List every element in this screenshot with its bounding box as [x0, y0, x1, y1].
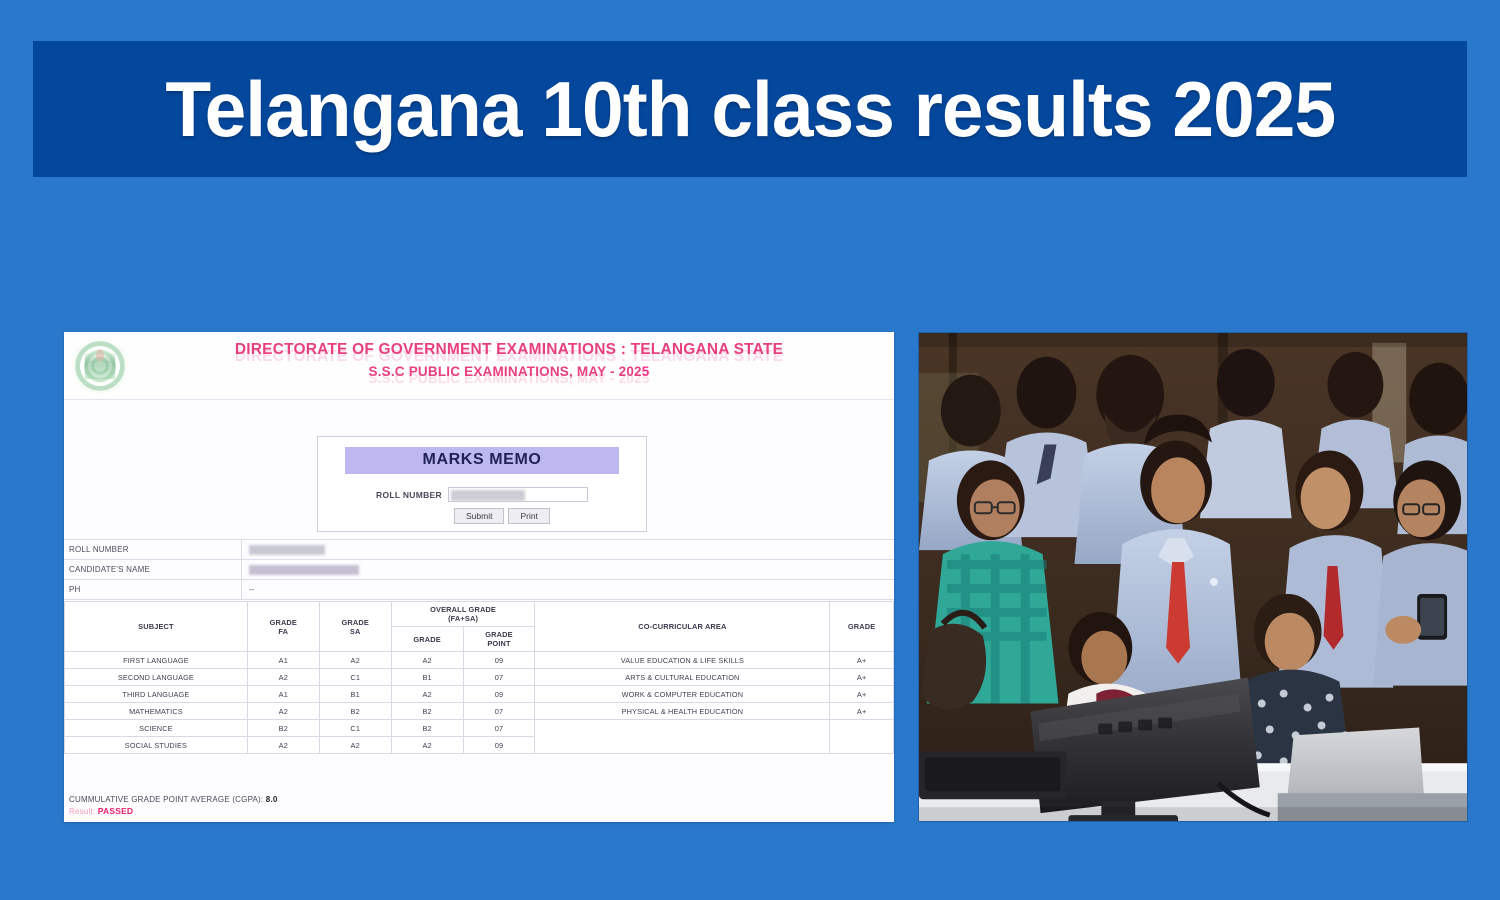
cell-co-curricular-area: PHYSICAL & HEALTH EDUCATION: [535, 703, 830, 720]
marks-memo-document: DIRECTORATE OF GOVERNMENT EXAMINATIONS :…: [64, 332, 894, 822]
marks-memo-lookup-panel: MARKS MEMO ROLL NUMBER Submit Print: [317, 436, 647, 532]
cell-grade-point: 09: [463, 652, 535, 669]
memo-header-line-2: S.S.C PUBLIC EXAMINATIONS, MAY - 2025: [64, 359, 894, 379]
table-row: FIRST LANGUAGEA1A2A209VALUE EDUCATION & …: [65, 652, 894, 669]
cell-grade-sa: A2: [319, 652, 391, 669]
result-line: Result: PASSED: [69, 806, 894, 816]
cell-co-curricular-area: ARTS & CULTURAL EDUCATION: [535, 669, 830, 686]
cell-grade-fa: A1: [247, 652, 319, 669]
cell-overall-grade: A2: [391, 686, 463, 703]
header-co-curricular-grade: GRADE: [830, 602, 894, 652]
roll-number-row: ROLL NUMBER: [318, 487, 646, 502]
cell-co-curricular-area-empty: [535, 720, 830, 754]
cell-grade-sa: C1: [319, 669, 391, 686]
cell-co-curricular-area: WORK & COMPUTER EDUCATION: [535, 686, 830, 703]
print-button[interactable]: Print: [508, 508, 549, 524]
cell-grade-point: 07: [463, 720, 535, 737]
result-label: Result:: [69, 807, 95, 816]
cell-subject: SECOND LANGUAGE: [65, 669, 248, 686]
cell-co-curricular-grade-empty: [830, 720, 894, 754]
header-grade-fa: GRADE FA: [247, 602, 319, 652]
header-grade-fa-line2: FA: [278, 627, 288, 636]
header-overall-grade: OVERALL GRADE (FA+SA): [391, 602, 535, 627]
candidate-info-value: [242, 560, 894, 579]
cell-co-curricular-grade: A+: [830, 686, 894, 703]
memo-header-line-1: DIRECTORATE OF GOVERNMENT EXAMINATIONS :…: [64, 332, 894, 359]
cell-subject: SOCIAL STUDIES: [65, 737, 248, 754]
table-row: THIRD LANGUAGEA1B1A209WORK & COMPUTER ED…: [65, 686, 894, 703]
cell-grade-fa: A2: [247, 703, 319, 720]
candidate-info-row: CANDIDATE'S NAME: [64, 560, 894, 580]
cell-subject: THIRD LANGUAGE: [65, 686, 248, 703]
cgpa-value: 8.0: [266, 795, 278, 804]
cell-overall-grade: B2: [391, 703, 463, 720]
redacted-value: [249, 545, 325, 555]
cell-subject: FIRST LANGUAGE: [65, 652, 248, 669]
table-row: MATHEMATICSA2B2B207PHYSICAL & HEALTH EDU…: [65, 703, 894, 720]
candidate-info-value: [242, 540, 894, 559]
cell-grade-fa: B2: [247, 720, 319, 737]
cell-grade-sa: A2: [319, 737, 391, 754]
result-value: PASSED: [98, 806, 134, 816]
cell-grade-sa: C1: [319, 720, 391, 737]
students-checking-results-photo: [918, 332, 1468, 822]
cell-grade-fa: A1: [247, 686, 319, 703]
table-header-row: SUBJECT GRADE FA GRADE SA OVERALL GRADE …: [65, 602, 894, 627]
candidate-info-key: ROLL NUMBER: [64, 540, 242, 559]
results-table: SUBJECT GRADE FA GRADE SA OVERALL GRADE …: [64, 601, 894, 754]
cell-overall-grade: B1: [391, 669, 463, 686]
page-title-banner: Telangana 10th class results 2025: [33, 41, 1467, 177]
candidate-info-row: ROLL NUMBER: [64, 540, 894, 560]
cell-co-curricular-grade: A+: [830, 652, 894, 669]
photo-illustration: [919, 333, 1467, 821]
header-overall-grade-line1: OVERALL GRADE: [430, 605, 496, 614]
cell-grade-point: 07: [463, 669, 535, 686]
cell-grade-sa: B1: [319, 686, 391, 703]
candidate-info-key: PH: [64, 580, 242, 599]
header-grade-point-line2: POINT: [487, 639, 510, 648]
candidate-info-key: CANDIDATE'S NAME: [64, 560, 242, 579]
memo-header: DIRECTORATE OF GOVERNMENT EXAMINATIONS :…: [64, 332, 894, 400]
cell-overall-grade: A2: [391, 737, 463, 754]
results-table-body: FIRST LANGUAGEA1A2A209VALUE EDUCATION & …: [65, 652, 894, 754]
submit-button[interactable]: Submit: [454, 508, 504, 524]
header-grade-fa-line1: GRADE: [270, 618, 297, 627]
cell-overall-grade: A2: [391, 652, 463, 669]
cell-grade-fa: A2: [247, 737, 319, 754]
candidate-info-block: ROLL NUMBER CANDIDATE'S NAME PH --: [64, 539, 894, 600]
cell-co-curricular-grade: A+: [830, 703, 894, 720]
cell-subject: SCIENCE: [65, 720, 248, 737]
marks-memo-title: MARKS MEMO: [345, 447, 619, 474]
cgpa-label: CUMMULATIVE GRADE POINT AVERAGE (CGPA):: [69, 795, 263, 804]
header-grade-point: GRADE POINT: [463, 627, 535, 652]
header-grade-sa: GRADE SA: [319, 602, 391, 652]
memo-footer: CUMMULATIVE GRADE POINT AVERAGE (CGPA): …: [64, 792, 894, 816]
cell-grade-fa: A2: [247, 669, 319, 686]
redacted-value: [249, 565, 359, 575]
table-row: SECOND LANGUAGEA2C1B107ARTS & CULTURAL E…: [65, 669, 894, 686]
lookup-buttons: Submit Print: [318, 508, 646, 524]
cell-grade-point: 09: [463, 737, 535, 754]
header-co-curricular-area: CO-CURRICULAR AREA: [535, 602, 830, 652]
cell-co-curricular-area: VALUE EDUCATION & LIFE SKILLS: [535, 652, 830, 669]
memo-header-year-highlight: 5: [642, 364, 650, 379]
cell-co-curricular-grade: A+: [830, 669, 894, 686]
memo-header-line-2-prefix: S.S.C PUBLIC EXAMINATIONS, MAY - 202: [369, 364, 642, 379]
cell-grade-point: 09: [463, 686, 535, 703]
candidate-info-row: PH --: [64, 580, 894, 600]
cgpa-line: CUMMULATIVE GRADE POINT AVERAGE (CGPA): …: [69, 795, 894, 804]
cell-overall-grade: B2: [391, 720, 463, 737]
header-subject: SUBJECT: [65, 602, 248, 652]
page-title: Telangana 10th class results 2025: [165, 70, 1335, 148]
header-grade-point-line1: GRADE: [485, 630, 512, 639]
cell-grade-point: 07: [463, 703, 535, 720]
table-row: SCIENCEB2C1B207: [65, 720, 894, 737]
cell-subject: MATHEMATICS: [65, 703, 248, 720]
candidate-info-value: --: [242, 580, 894, 599]
header-grade-sa-line1: GRADE: [341, 618, 368, 627]
header-overall-grade-sub: GRADE: [391, 627, 463, 652]
cell-grade-sa: B2: [319, 703, 391, 720]
roll-number-input[interactable]: [448, 487, 588, 502]
roll-number-label: ROLL NUMBER: [376, 490, 442, 500]
header-overall-grade-line2: (FA+SA): [448, 614, 478, 623]
header-grade-sa-line2: SA: [350, 627, 361, 636]
